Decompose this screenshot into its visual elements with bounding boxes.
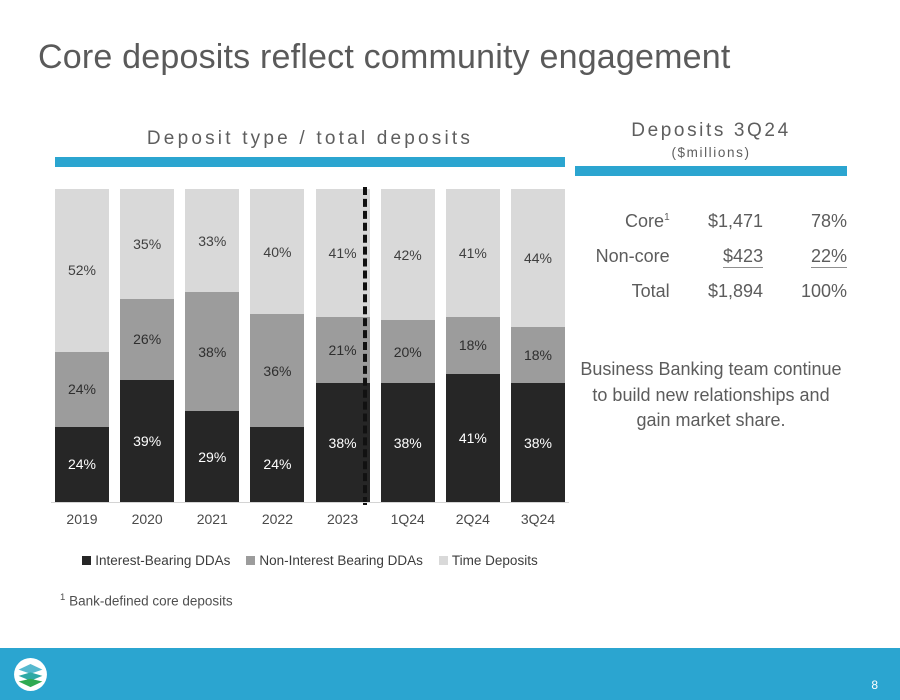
- deposits-table: Core1 $1,471 78% Non-core $423 22% Total…: [575, 204, 847, 309]
- segment-time-deposits: 40%: [250, 189, 304, 314]
- legend-swatch-icon: [82, 556, 91, 565]
- legend-label: Time Deposits: [452, 553, 538, 568]
- x-label-2022: 2022: [250, 511, 304, 527]
- bar-column-2q24[interactable]: 41% 18% 41%: [446, 189, 500, 502]
- table-row: Core1 $1,471 78%: [575, 204, 847, 239]
- chart-heading: Deposit type / total deposits: [55, 128, 565, 157]
- row-label-total: Total: [575, 274, 670, 309]
- bar-column-2021[interactable]: 33% 38% 29%: [185, 189, 239, 502]
- bar-column-1q24[interactable]: 42% 20% 38%: [381, 189, 435, 502]
- segment-interest-bearing: 38%: [381, 383, 435, 502]
- row-pct-core: 78%: [769, 204, 847, 239]
- row-label-text: Non-core: [596, 246, 670, 266]
- x-axis-line: [51, 502, 569, 503]
- x-label-2019: 2019: [55, 511, 109, 527]
- bar-column-2023[interactable]: 41% 21% 38%: [316, 189, 370, 502]
- x-label-3q24: 3Q24: [511, 511, 565, 527]
- segment-time-deposits: 52%: [55, 189, 109, 352]
- segment-time-deposits: 41%: [316, 189, 370, 317]
- legend-swatch-icon: [246, 556, 255, 565]
- bar-column-2022[interactable]: 40% 36% 24%: [250, 189, 304, 502]
- footnote-marker: 1: [60, 592, 65, 603]
- footnote-text: Bank-defined core deposits: [69, 594, 233, 609]
- row-pct-total: 100%: [769, 274, 847, 309]
- bar-columns: 52% 24% 24% 35% 26% 39% 33% 38% 29% 40% …: [55, 189, 565, 502]
- row-value-non-core: $423: [670, 239, 769, 274]
- legend-item-non-interest-bearing-ddas[interactable]: Non-Interest Bearing DDAs: [246, 553, 423, 568]
- chart-heading-rule: [55, 157, 565, 167]
- bar-column-2019[interactable]: 52% 24% 24%: [55, 189, 109, 502]
- x-label-2021: 2021: [185, 511, 239, 527]
- segment-interest-bearing: 24%: [55, 427, 109, 502]
- deposits-subheading: ($millions): [575, 145, 847, 166]
- segment-interest-bearing: 38%: [511, 383, 565, 502]
- stacked-bar-plot: 52% 24% 24% 35% 26% 39% 33% 38% 29% 40% …: [55, 189, 565, 502]
- segment-interest-bearing: 41%: [446, 374, 500, 502]
- row-label-core: Core1: [575, 204, 670, 239]
- deposits-heading-rule: [575, 166, 847, 176]
- page-number: 8: [871, 678, 878, 692]
- segment-time-deposits: 42%: [381, 189, 435, 320]
- legend-label: Interest-Bearing DDAs: [95, 553, 230, 568]
- legend-label: Non-Interest Bearing DDAs: [259, 553, 423, 568]
- legend-item-time-deposits[interactable]: Time Deposits: [439, 553, 538, 568]
- segment-time-deposits: 44%: [511, 189, 565, 327]
- segment-non-interest-bearing: 24%: [55, 352, 109, 427]
- deposit-type-chart-panel: Deposit type / total deposits 52% 24% 24…: [55, 128, 565, 609]
- segment-non-interest-bearing: 38%: [185, 292, 239, 411]
- summary-blurb: Business Banking team continue to build …: [575, 357, 847, 434]
- segment-non-interest-bearing: 18%: [446, 317, 500, 373]
- row-label-non-core: Non-core: [575, 239, 670, 274]
- segment-interest-bearing: 39%: [120, 380, 174, 502]
- row-value-total: $1,894: [670, 274, 769, 309]
- x-axis-labels: 2019 2020 2021 2022 2023 1Q24 2Q24 3Q24: [55, 511, 565, 527]
- bar-column-2020[interactable]: 35% 26% 39%: [120, 189, 174, 502]
- segment-interest-bearing: 29%: [185, 411, 239, 502]
- row-value-core: $1,471: [670, 204, 769, 239]
- legend-item-interest-bearing-ddas[interactable]: Interest-Bearing DDAs: [82, 553, 230, 568]
- segment-non-interest-bearing: 36%: [250, 314, 304, 427]
- page-title: Core deposits reflect community engageme…: [38, 38, 731, 77]
- x-label-2q24: 2Q24: [446, 511, 500, 527]
- footer-bar: 8: [0, 648, 900, 700]
- x-label-1q24: 1Q24: [381, 511, 435, 527]
- segment-non-interest-bearing: 21%: [316, 317, 370, 383]
- segment-time-deposits: 35%: [120, 189, 174, 299]
- period-divider-line: [363, 187, 367, 505]
- segment-non-interest-bearing: 20%: [381, 320, 435, 383]
- bar-column-3q24[interactable]: 44% 18% 38%: [511, 189, 565, 502]
- row-label-text: Core: [625, 211, 664, 231]
- segment-non-interest-bearing: 18%: [511, 327, 565, 383]
- table-row: Non-core $423 22%: [575, 239, 847, 274]
- company-logo-icon: [13, 657, 48, 692]
- chart-footnote: 1 Bank-defined core deposits: [60, 592, 565, 609]
- row-label-text: Total: [632, 281, 670, 301]
- segment-non-interest-bearing: 26%: [120, 299, 174, 380]
- segment-interest-bearing: 24%: [250, 427, 304, 502]
- table-row: Total $1,894 100%: [575, 274, 847, 309]
- deposits-summary-panel: Deposits 3Q24 ($millions) Core1 $1,471 7…: [575, 120, 847, 434]
- segment-interest-bearing: 38%: [316, 383, 370, 502]
- row-pct-non-core: 22%: [769, 239, 847, 274]
- row-label-footnote-marker: 1: [664, 212, 670, 223]
- segment-time-deposits: 41%: [446, 189, 500, 317]
- legend-swatch-icon: [439, 556, 448, 565]
- chart-legend: Interest-Bearing DDAs Non-Interest Beari…: [55, 553, 565, 568]
- x-label-2020: 2020: [120, 511, 174, 527]
- x-label-2023: 2023: [316, 511, 370, 527]
- segment-time-deposits: 33%: [185, 189, 239, 292]
- deposits-heading: Deposits 3Q24: [575, 120, 847, 142]
